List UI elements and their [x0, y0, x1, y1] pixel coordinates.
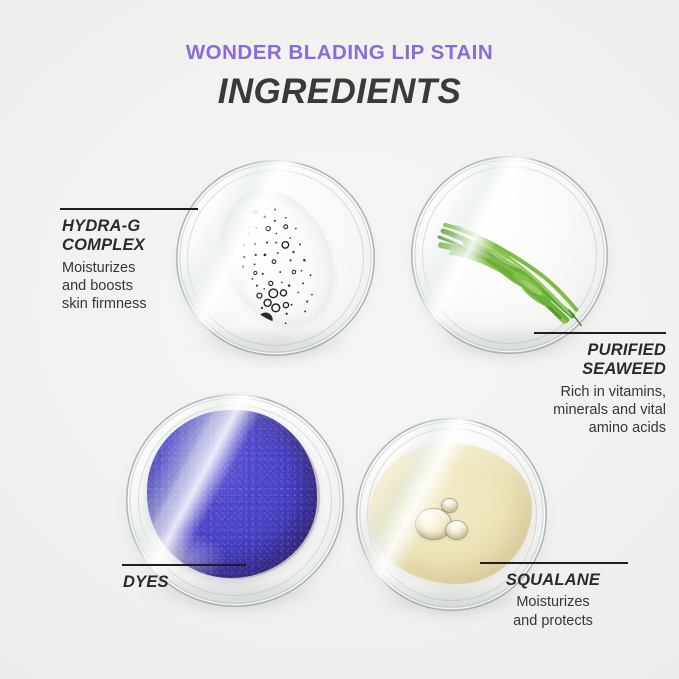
ingredient-description: Rich in vitamins, minerals and vital ami…	[478, 383, 674, 438]
callout-dyes: DYES	[92, 564, 292, 592]
seaweed-fronds	[431, 204, 593, 327]
ingredient-name: SQUALANE	[470, 571, 666, 590]
oil-bubble-small	[442, 499, 457, 512]
callout-leader-line	[534, 332, 666, 334]
ingredient-name: HYDRA-G COMPLEX	[18, 217, 203, 256]
callout-leader-line	[60, 208, 198, 210]
header: WONDER BLADING LIP STAIN INGREDIENTS	[0, 42, 679, 112]
ingredient-name: PURIFIED SEAWEED	[478, 341, 674, 380]
petri-dish-hydra-g-complex	[176, 160, 375, 356]
petri-dish-purified-seaweed	[411, 156, 608, 354]
page-title: INGREDIENTS	[0, 72, 679, 112]
oil-bubble-large	[416, 509, 450, 539]
ingredient-description: Moisturizes and protects	[470, 593, 666, 630]
ingredient-description: Moisturizes and boosts skin firmness	[18, 259, 203, 314]
product-name-kicker: WONDER BLADING LIP STAIN	[0, 42, 679, 65]
callout-squalane: SQUALANE Moisturizes and protects	[470, 562, 666, 630]
callout-leader-line	[480, 562, 628, 564]
blue-violet-powder	[147, 410, 317, 578]
seaweed-icon	[431, 204, 593, 327]
petri-dish-shadow	[188, 331, 363, 362]
ingredient-name: DYES	[92, 573, 292, 592]
callout-hydra-g-complex: HYDRA-G COMPLEX Moisturizes and boosts s…	[18, 208, 203, 313]
callout-purified-seaweed: PURIFIED SEAWEED Rich in vitamins, miner…	[478, 332, 674, 437]
oil-bubble-medium	[446, 521, 467, 539]
callout-leader-line	[122, 564, 246, 566]
infographic-canvas: WONDER BLADING LIP STAIN INGREDIENTS	[0, 0, 679, 679]
